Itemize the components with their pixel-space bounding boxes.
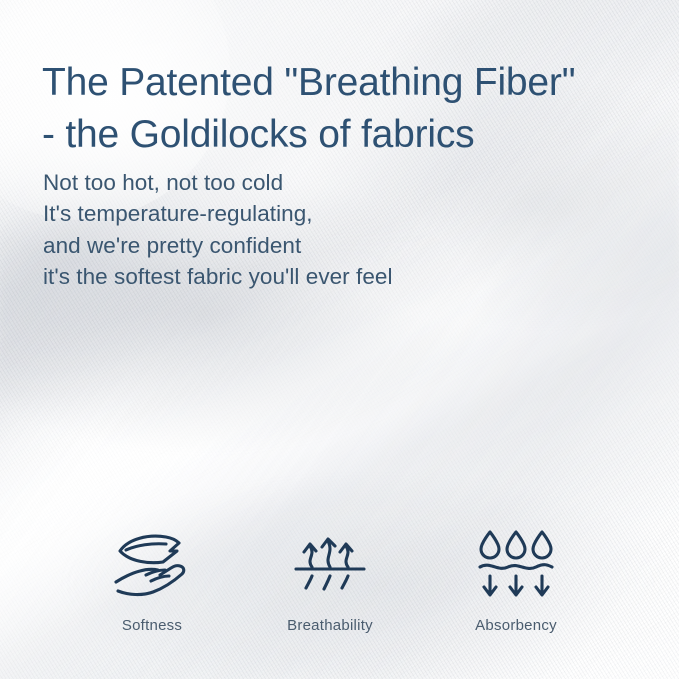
feature-label: Absorbency bbox=[431, 617, 601, 635]
feature-list: Softness bbox=[0, 528, 679, 648]
feature-item-breathability: Breathability bbox=[245, 528, 415, 635]
water-droplets-absorb-icon bbox=[431, 528, 601, 600]
product-feature-graphic: The Patented "Breathing Fiber" - the Gol… bbox=[0, 0, 679, 679]
feature-label: Breathability bbox=[245, 617, 415, 635]
rising-air-arrows-icon bbox=[245, 528, 415, 600]
feature-item-softness: Softness bbox=[67, 528, 237, 635]
feature-item-absorbency: Absorbency bbox=[431, 528, 601, 635]
page-title: The Patented "Breathing Fiber" - the Gol… bbox=[42, 57, 657, 161]
feature-label: Softness bbox=[67, 617, 237, 635]
feather-over-hand-icon bbox=[67, 528, 237, 600]
description-text: Not too hot, not too cold It's temperatu… bbox=[43, 167, 603, 293]
